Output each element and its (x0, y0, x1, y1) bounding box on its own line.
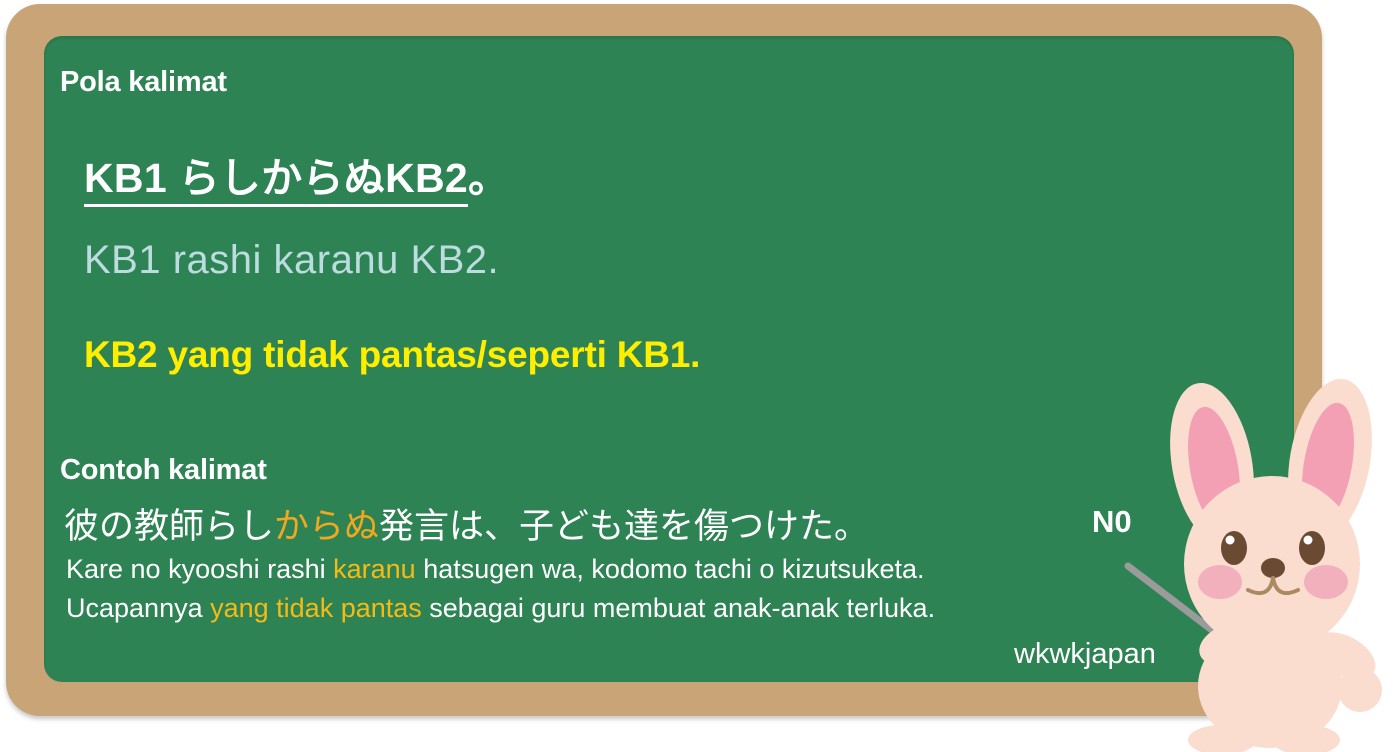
example-japanese-part1: 彼の教師らし (64, 507, 274, 546)
pattern-section-title: Pola kalimat (60, 66, 227, 99)
pattern-japanese-underlined: KB1 らしからぬKB2 (84, 155, 468, 207)
example-indonesian-highlight: yang tidak pantas (210, 593, 422, 623)
example-indonesian: Ucapannya yang tidak pantas sebagai guru… (66, 593, 935, 624)
example-japanese-highlight: からぬ (274, 507, 379, 546)
example-romaji: Kare no kyooshi rashi karanu hatsugen wa… (66, 554, 925, 585)
example-section-title: Contoh kalimat (60, 454, 267, 487)
example-indonesian-part2: sebagai guru membuat anak-anak terluka. (422, 593, 935, 623)
example-romaji-highlight: karanu (333, 554, 416, 584)
rabbit-right-cheek (1304, 565, 1348, 599)
pattern-japanese-punctuation: 。 (468, 155, 509, 201)
rabbit-right-eye (1299, 531, 1325, 565)
rabbit-teacher-mascot (1120, 368, 1396, 752)
chalkboard-content: Pola kalimat KB1 らしからぬKB2。 KB1 rashi kar… (44, 36, 1294, 682)
pattern-romaji: KB1 rashi karanu KB2. (84, 238, 499, 283)
rabbit-left-cheek (1198, 565, 1242, 599)
chalkboard-surface: Pola kalimat KB1 らしからぬKB2。 KB1 rashi kar… (44, 36, 1294, 682)
example-japanese-part2: 発言は、子ども達を傷つけた。 (379, 507, 869, 546)
pattern-japanese: KB1 らしからぬKB2。 (84, 144, 509, 204)
example-romaji-part2: hatsugen wa, kodomo tachi o kizutsuketa. (416, 554, 925, 584)
rabbit-head (1184, 476, 1360, 652)
example-indonesian-part1: Ucapannya (66, 593, 210, 623)
example-japanese: 彼の教師らしからぬ発言は、子ども達を傷つけた。 (64, 498, 869, 549)
rabbit-left-eye (1221, 531, 1247, 565)
pattern-indonesian: KB2 yang tidak pantas/seperti KB1. (84, 334, 700, 376)
example-romaji-part1: Kare no kyooshi rashi (66, 554, 333, 584)
